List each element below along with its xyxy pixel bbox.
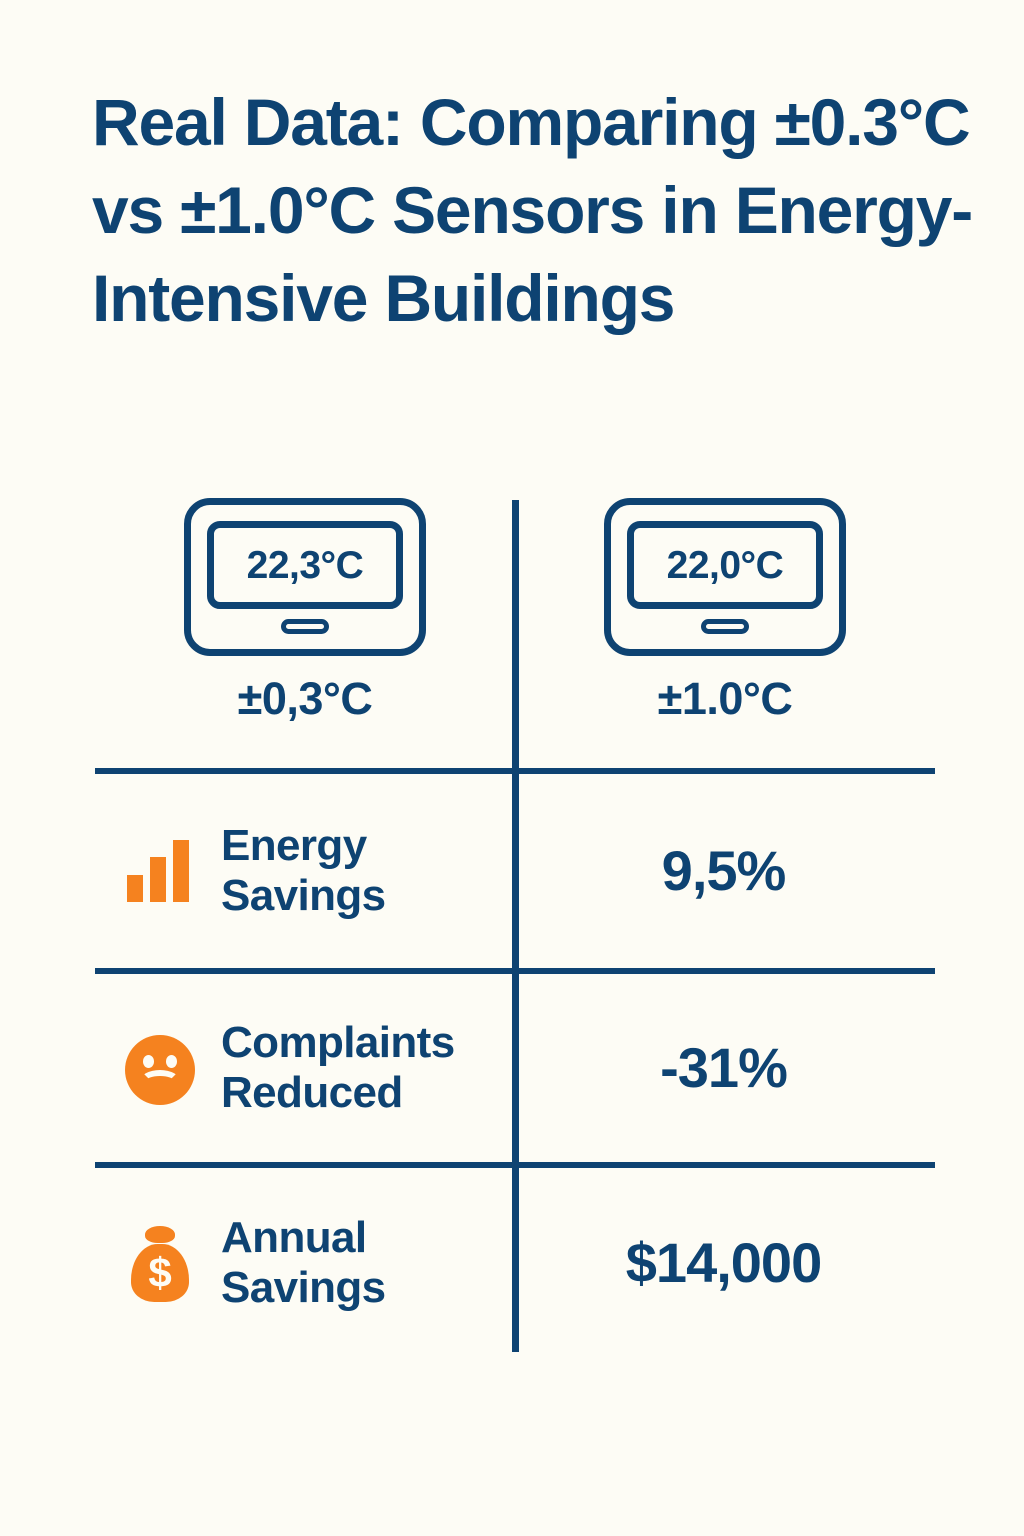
display-screen: 22,0°C xyxy=(627,521,823,609)
row-value-complaints-reduced: -31% xyxy=(660,1040,787,1096)
row-value-annual-savings: $14,000 xyxy=(626,1235,821,1291)
sad-face-icon xyxy=(121,1029,199,1107)
row-label-cell: $ Annual Savings xyxy=(95,1213,512,1313)
display-screen: 22,3°C xyxy=(207,521,403,609)
bag-knot xyxy=(145,1226,175,1243)
row-value-cell: 9,5% xyxy=(512,843,935,899)
temperature-reading-right: 22,0°C xyxy=(667,546,784,585)
device-button-icon xyxy=(281,619,329,634)
frown-mouth xyxy=(140,1070,180,1092)
bar-2 xyxy=(150,857,166,902)
thermostat-display-icon: 22,0°C xyxy=(604,498,846,656)
bar-1 xyxy=(127,875,143,902)
comparison-header-row: 22,3°C ±0,3°C 22,0°C ±1.0°C xyxy=(95,498,935,760)
row-label-energy-savings: Energy Savings xyxy=(221,821,512,921)
column-header-left: 22,3°C ±0,3°C xyxy=(95,498,515,760)
temperature-reading-left: 22,3°C xyxy=(247,546,364,585)
bar-chart-icon xyxy=(121,832,199,910)
row-value-energy-savings: 9,5% xyxy=(662,843,786,899)
table-row: $ Annual Savings $14,000 xyxy=(95,1168,935,1358)
row-value-cell: $14,000 xyxy=(512,1235,935,1291)
column-header-right: 22,0°C ±1.0°C xyxy=(515,498,935,760)
eye-left xyxy=(143,1055,154,1068)
row-label-cell: Energy Savings xyxy=(95,821,512,921)
row-label-complaints-reduced: Complaints Reduced xyxy=(221,1018,512,1118)
row-label-annual-savings: Annual Savings xyxy=(221,1213,512,1313)
page-title: Real Data: Comparing ±0.3°C vs ±1.0°C Se… xyxy=(92,78,982,342)
device-button-icon xyxy=(701,619,749,634)
thermostat-display-icon: 22,3°C xyxy=(184,498,426,656)
table-row: Energy Savings 9,5% xyxy=(95,774,935,968)
row-label-cell: Complaints Reduced xyxy=(95,1018,512,1118)
accuracy-label-left: ±0,3°C xyxy=(238,676,373,721)
eye-right xyxy=(166,1055,177,1068)
dollar-sign-icon: $ xyxy=(131,1250,189,1296)
money-bag-icon: $ xyxy=(121,1224,199,1302)
accuracy-label-right: ±1.0°C xyxy=(658,676,793,721)
table-row: Complaints Reduced -31% xyxy=(95,974,935,1162)
bar-3 xyxy=(173,840,189,902)
infographic-page: Real Data: Comparing ±0.3°C vs ±1.0°C Se… xyxy=(0,0,1024,1536)
row-value-cell: -31% xyxy=(512,1040,935,1096)
